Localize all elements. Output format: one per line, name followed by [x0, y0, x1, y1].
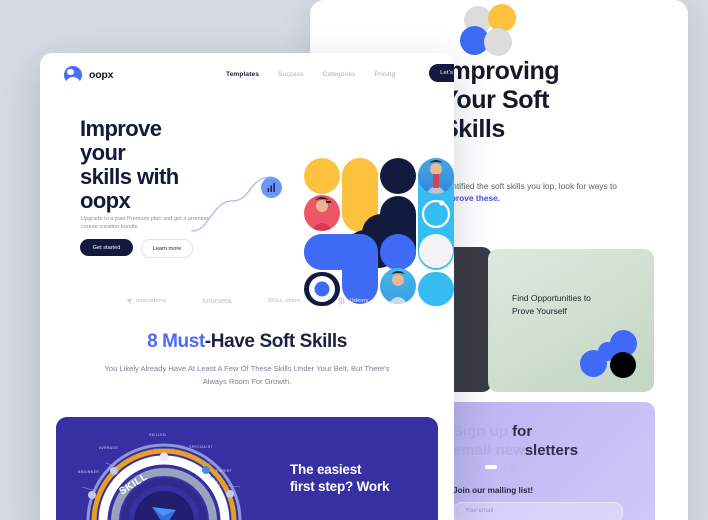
molecule-blob-icon	[580, 330, 642, 382]
green-opportunity-card[interactable]: Find Opportunities to Prove Yourself	[488, 249, 654, 392]
green-card-line-1: Find Opportunities to	[512, 292, 632, 305]
hero-art-grid	[302, 156, 454, 306]
get-started-button[interactable]: Get started	[80, 239, 133, 256]
back-page-subtitle: identified the soft skills you lop, look…	[441, 181, 646, 204]
progress-bar-2	[485, 465, 497, 469]
nav-link-success[interactable]: Success	[278, 71, 304, 78]
unacademy-icon	[126, 298, 133, 305]
udemy-icon	[338, 297, 347, 305]
hero-title-line-2: your	[80, 141, 250, 165]
section-title: 8 Must-Have Soft Skills	[40, 331, 454, 353]
green-card-title: Find Opportunities to Prove Yourself	[512, 292, 632, 318]
nav-link-pricing[interactable]: Pricing	[375, 71, 396, 78]
section-subtitle: You Likely Already Have At Least A Few O…	[97, 363, 397, 388]
section-title-rest: -Have Soft Skills	[205, 331, 347, 352]
newsletter-title-strong-1: for	[512, 423, 532, 440]
avatar-photo-2	[304, 195, 340, 231]
nav-cta-button[interactable]: Let's do it	[429, 64, 454, 82]
logo-skillshare: SKILL share.	[267, 298, 301, 304]
decoration-dots	[458, 2, 522, 60]
gauge-label-specialist: SPECIALIST	[189, 445, 213, 449]
blob-circle-black	[610, 352, 636, 378]
logo-coursera-label: coursera	[203, 298, 232, 305]
avatar-photo-1	[418, 158, 454, 194]
nav-links: Templates Success Categories Pricing	[226, 71, 395, 78]
purple-heading-line-1: The easiest	[290, 461, 438, 478]
front-page-card: oopx Templates Success Categories Pricin…	[40, 53, 454, 520]
logo-unacademy: unacademy	[126, 298, 167, 305]
green-card-line-2: Prove Yourself	[512, 305, 632, 318]
newsletter-email-placeholder: Your email	[465, 508, 493, 514]
section-title-highlight: 8 Must	[147, 331, 205, 352]
purple-heading-line-2: first step? Work	[290, 478, 438, 495]
bar-chart-icon	[261, 177, 282, 198]
purple-card-heading: The easiest first step? Work	[290, 461, 438, 495]
purple-skill-card[interactable]: BEGINNER AVERAGE SKILLED SPECIALIST EXPE…	[56, 417, 438, 520]
logo-udemy-label: Udemy	[350, 298, 369, 304]
logo-skillshare-label: SKILL share.	[267, 298, 301, 304]
newsletter-email-input[interactable]: Your email	[453, 502, 623, 520]
bar-chart-glyph	[266, 182, 277, 193]
partner-logos-row: unacademy coursera SKILL share. Udemy	[40, 289, 454, 313]
progress-bar-3	[501, 465, 506, 469]
back-title-line-3: Skills	[442, 115, 682, 144]
newsletter-title: Sign up for email newsletters	[453, 422, 643, 460]
navbar: oopx Templates Success Categories Pricin…	[40, 53, 454, 97]
logo-udemy: Udemy	[338, 297, 369, 305]
newsletter-progress-bars	[453, 465, 515, 469]
gauge-label-skilled: SKILLED	[149, 433, 166, 437]
back-subtitle-part-2: lop, look for ways to	[543, 181, 617, 191]
dot-gray-bottom-right	[484, 28, 512, 56]
back-title-line-2: Your Soft	[442, 86, 682, 115]
newsletter-card[interactable]: Sign up for email newsletters Join our m…	[433, 402, 655, 520]
nav-link-templates[interactable]: Templates	[226, 71, 259, 78]
progress-bar-1	[453, 465, 481, 469]
gauge-label-average: AVERAGE	[99, 446, 118, 450]
learn-more-button[interactable]: Learn more	[141, 239, 193, 258]
screenshot-stage: Improving Your Soft Skills identified th…	[0, 0, 708, 520]
newsletter-title-muted-2: email new	[453, 442, 525, 459]
hero-buttons: Get started Learn more	[80, 239, 193, 258]
newsletter-title-strong-2: sletters	[525, 442, 578, 459]
newsletter-title-muted-1: Sign up	[453, 423, 512, 440]
back-page-title: Improving Your Soft Skills	[442, 57, 682, 144]
newsletter-join-label: Join our mailing list!	[453, 486, 533, 495]
brand-name: oopx	[89, 69, 113, 81]
skill-gauge-graphic	[70, 429, 260, 520]
brand[interactable]: oopx	[64, 66, 113, 84]
oopx-circle-logo-icon	[64, 66, 82, 84]
back-subtitle-part-1: identified the soft skills you	[441, 181, 541, 191]
back-title-line-1: Improving	[442, 57, 682, 86]
newsletter-title-line-2: email newsletters	[453, 441, 643, 460]
hero-title-line-1: Improve	[80, 117, 250, 141]
nav-link-categories[interactable]: Categories	[323, 71, 356, 78]
progress-bar-4	[510, 465, 515, 469]
logo-unacademy-label: unacademy	[136, 298, 167, 304]
gauge-label-expert: EXPERT	[216, 469, 232, 473]
gauge-label-beginner: BEGINNER	[78, 470, 99, 474]
newsletter-title-line-1: Sign up for	[453, 422, 643, 441]
back-subtitle-bold-2: these.	[476, 193, 500, 203]
logo-coursera: coursera	[203, 298, 232, 305]
